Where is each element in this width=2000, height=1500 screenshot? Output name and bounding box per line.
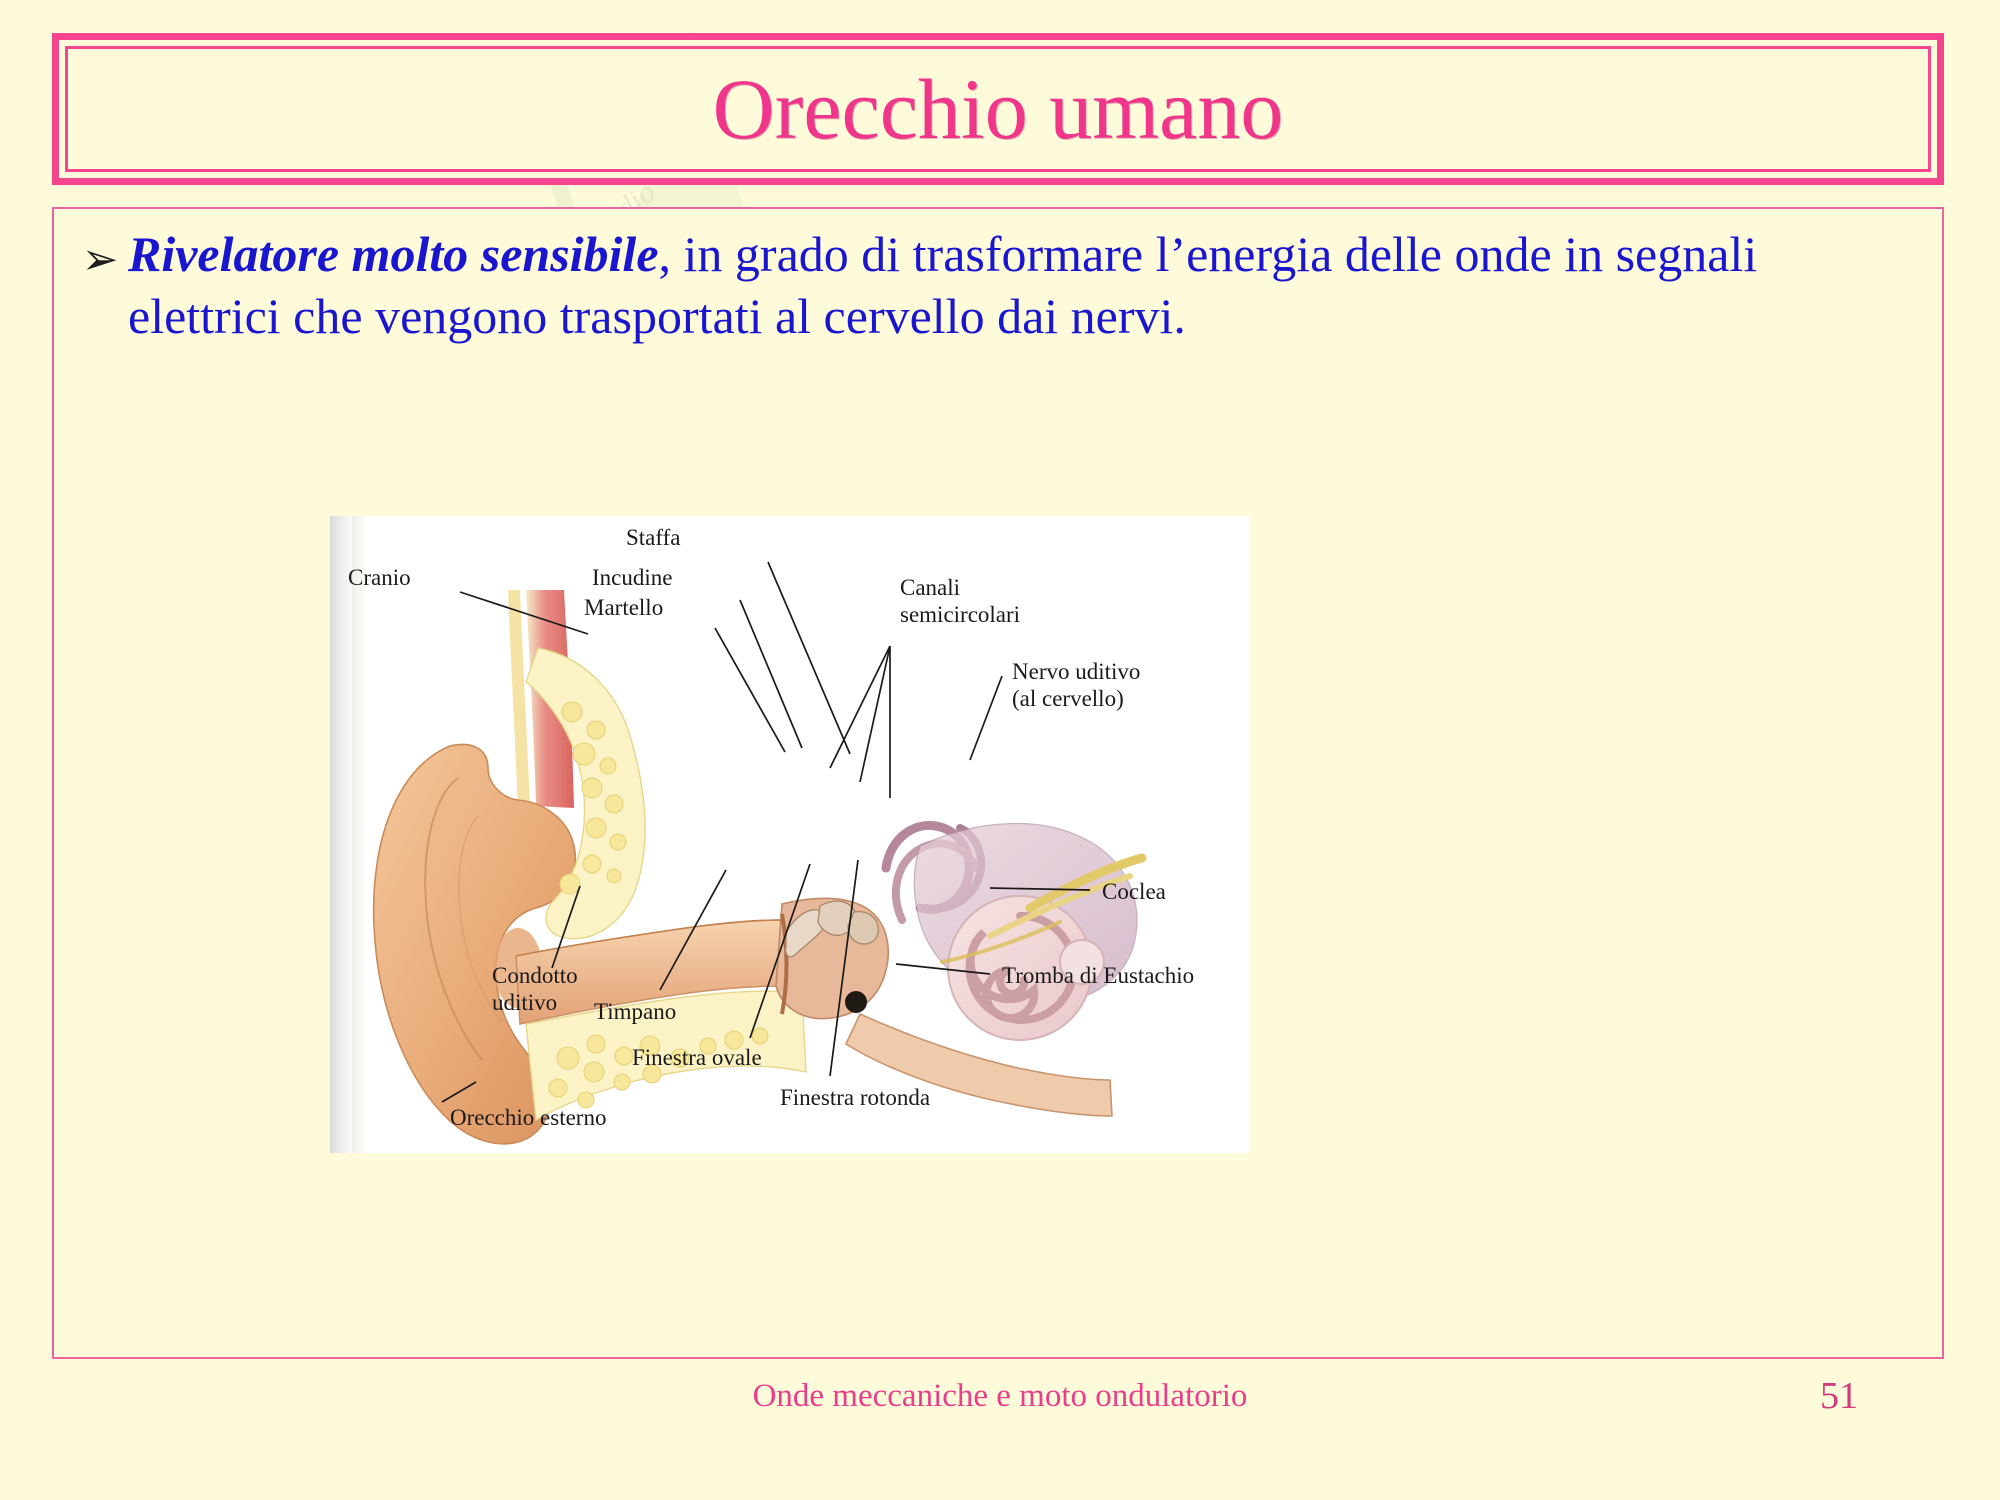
bullet-item: ➢ Rivelatore molto sensibile, in grado d… (72, 223, 1912, 347)
page-number: 51 (1820, 1374, 1940, 1418)
figure-label-nervo-uditivo: Nervo uditivo (al cervello) (1012, 658, 1140, 712)
footer-title: Onde meccaniche e moto ondulatorio (0, 1378, 2000, 1415)
figure-label-martello: Martello (584, 594, 663, 621)
ear-diagram-figure: Cranio Staffa Incudine Martello Canali s… (330, 516, 1250, 1153)
figure-label-condotto-uditivo: Condotto uditivo (492, 962, 578, 1016)
figure-label-incudine: Incudine (592, 564, 672, 591)
figure-label-finestra-ovale: Finestra ovale (632, 1044, 762, 1071)
title-frame-inner: Orecchio umano (65, 46, 1931, 172)
figure-label-timpano: Timpano (594, 998, 676, 1025)
content-frame: ➢ Rivelatore molto sensibile, in grado d… (52, 207, 1944, 1359)
title-frame: Orecchio umano (52, 33, 1944, 185)
bullet-paragraph: Rivelatore molto sensibile, in grado di … (128, 223, 1912, 347)
slide-canvas: AW il passo verso lo studio Orecchio uma… (0, 0, 2000, 1500)
figure-label-cranio: Cranio (348, 564, 411, 591)
figure-label-staffa: Staffa (626, 524, 681, 551)
page-title: Orecchio umano (713, 66, 1284, 152)
figure-label-canali-semicircolari: Canali semicircolari (900, 574, 1020, 628)
figure-label-finestra-rotonda: Finestra rotonda (780, 1084, 930, 1111)
figure-label-orecchio-esterno: Orecchio esterno (450, 1104, 606, 1131)
figure-label-tromba-eustachio: Tromba di Eustachio (1002, 962, 1194, 989)
figure-label-coclea: Coclea (1102, 878, 1166, 905)
ear-anatomy-illustration (330, 516, 1250, 1153)
bullet-lead-emphasis: Rivelatore molto sensibile (128, 226, 659, 282)
bullet-arrow-icon: ➢ (72, 223, 128, 291)
